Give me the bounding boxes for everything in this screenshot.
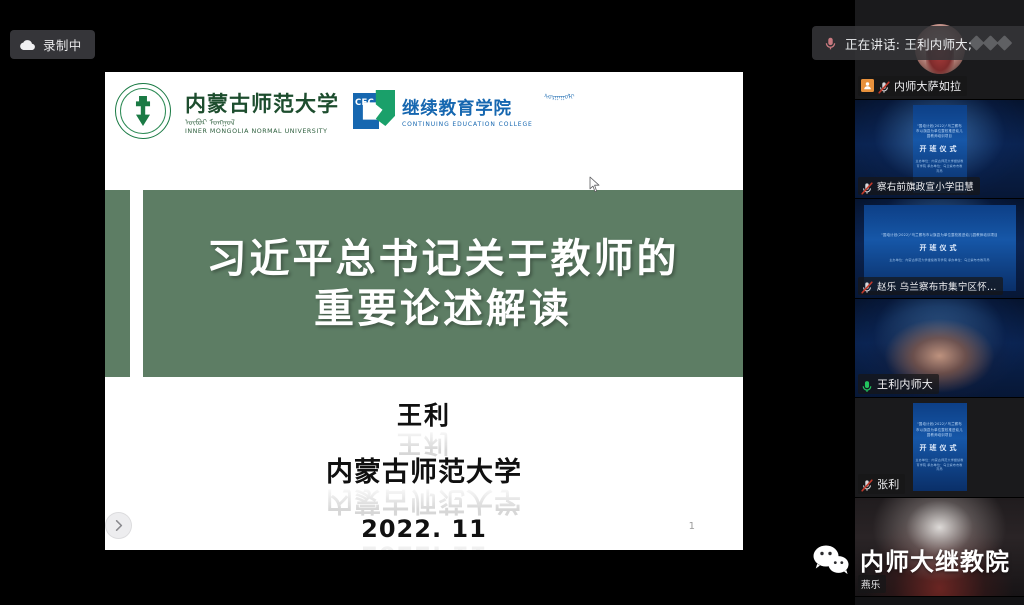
college-name-cn: 继续教育学院: [402, 95, 533, 120]
university-seal-icon: [115, 83, 171, 139]
poster-line-1: "国培计划(2022)"乌兰察布市以旗县为单位整校推进幼儿园教师培训项目: [878, 233, 1001, 238]
banner-body: 习近平总书记关于教师的 重要论述解读: [143, 190, 743, 377]
participant-name: 王利内师大: [877, 376, 933, 392]
poster-line-3: 主办单位：内蒙古师范大学继续教育学院 承办单位：乌兰察布市教育局: [913, 159, 967, 173]
participant-name: 察右前旗政宣小学田慧: [877, 179, 974, 193]
poster-line-2: 开班仪式: [920, 144, 960, 154]
university-name-en: INNER MONGOLIA NORMAL UNIVERSITY: [185, 128, 339, 135]
slide-logo-header: 内蒙古师范大学 ᠦᠪᠦᠷ ᠮᠣᠩᠭᠣᠯ INNER MONGOLIA NORMA…: [105, 80, 743, 142]
college-name-mn: ᠰᠤᠷᠭᠠᠭᠤᠯᠢ: [544, 90, 575, 102]
college-name-en: CONTINUING EDUCATION COLLEGE: [402, 121, 533, 128]
participant-tile[interactable]: "国培计划(2022)"乌兰察布市以旗县为单位整校推进幼儿园教师培训项目 开班仪…: [855, 398, 1024, 498]
recording-label: 录制中: [43, 35, 82, 54]
university-wordmark: 内蒙古师范大学 ᠦᠪᠦᠷ ᠮᠣᠩᠭᠣᠯ INNER MONGOLIA NORMA…: [185, 88, 339, 135]
university-name-mn: ᠦᠪᠦᠷ ᠮᠣᠩᠭᠣᠯ: [185, 119, 339, 127]
participant-name-strip: 赵乐 乌兰察布市集宁区怀远路...: [858, 277, 1003, 295]
university-name-cn: 内蒙古师范大学: [185, 88, 339, 118]
chevron-right-icon[interactable]: [105, 512, 132, 539]
active-speaker-banner: 正在讲话: 王利内师大;: [812, 26, 1024, 60]
slide-title-banner: 习近平总书记关于教师的 重要论述解读: [105, 190, 743, 377]
layout-icon[interactable]: [971, 38, 1010, 49]
author-organization: 内蒙古师范大学: [326, 457, 522, 488]
participant-name: 张利: [877, 476, 899, 492]
college-wordmark: 继续教育学院 CONTINUING EDUCATION COLLEGE: [402, 95, 533, 128]
participant-name-strip: 察右前旗政宣小学田慧: [858, 177, 980, 195]
shared-screen-stage: 录制中 内蒙古师范大学 ᠦᠪᠦᠷ ᠮᠣᠩᠭᠣᠯ INNER MONGOLIA N…: [0, 0, 855, 605]
microphone-icon: [861, 378, 873, 391]
microphone-muted-icon: [861, 180, 873, 193]
participant-name: 燕乐: [861, 577, 880, 591]
poster-line-1: "国培计划(2022)"乌兰察布市以旗县为单位整校推进幼儿园教师培训项目: [913, 124, 967, 139]
presentation-slide: 内蒙古师范大学 ᠦᠪᠦᠷ ᠮᠣᠩᠭᠣᠯ INNER MONGOLIA NORMA…: [105, 72, 743, 550]
cloud-icon: [19, 39, 36, 51]
participant-rail[interactable]: 内师大萨如拉 "国培计划(2022)"乌兰察布市以旗县为单位整校推进幼儿园教师培…: [855, 0, 1024, 605]
participant-tile-active-speaker[interactable]: 王利内师大: [855, 299, 1024, 399]
participant-tile[interactable]: 燕乐: [855, 498, 1024, 598]
participant-name: 内师大萨如拉: [894, 78, 961, 94]
author-date: 2022. 11: [361, 516, 487, 544]
active-speaker-label: 正在讲话: 王利内师大;: [845, 34, 972, 53]
participant-tile[interactable]: "国培计划(2022)"乌兰察布市以旗县为单位整校推进幼儿园教师培训项目 开班仪…: [855, 100, 1024, 200]
person-icon: [861, 79, 874, 92]
poster-line-1: "国培计划(2022)"乌兰察布市以旗县为单位整校推进幼儿园教师培训项目: [913, 422, 967, 437]
college-logo: CEC 继续教育学院 CONTINUING EDUCATION COLLEGE …: [353, 90, 575, 132]
poster-line-2: 开班仪式: [920, 443, 960, 453]
microphone-muted-icon: [861, 477, 873, 490]
microphone-muted-icon: [878, 79, 890, 92]
participant-name-strip: 张利: [858, 474, 905, 494]
participant-tile[interactable]: "国培计划(2022)"乌兰察布市以旗县为单位整校推进幼儿园教师培训项目 开班仪…: [855, 199, 1024, 299]
participant-name-strip: 燕乐: [858, 575, 886, 593]
microphone-muted-icon: [861, 279, 873, 292]
participant-name-strip: 内师大萨如拉: [858, 76, 967, 96]
cec-mark-icon: CEC: [353, 90, 395, 132]
author-organization-reflection: 内蒙古师范大学: [326, 485, 522, 516]
microphone-icon: [824, 36, 837, 51]
cec-abbreviation: CEC: [355, 98, 374, 108]
slide-title-line-1: 习近平总书记关于教师的: [207, 235, 680, 282]
participant-name-strip: 王利内师大: [858, 374, 939, 394]
banner-accent-bar: [105, 190, 130, 377]
poster-line-3: 主办单位：内蒙古师范大学继续教育学院 承办单位：乌兰察布市教育局: [886, 258, 992, 263]
slide-page-number: 1: [689, 521, 695, 532]
video-conference-screen: 录制中 内蒙古师范大学 ᠦᠪᠦᠷ ᠮᠣᠩᠭᠣᠯ INNER MONGOLIA N…: [0, 0, 1024, 605]
shared-poster: "国培计划(2022)"乌兰察布市以旗县为单位整校推进幼儿园教师培训项目 开班仪…: [913, 403, 967, 491]
poster-line-2: 开班仪式: [920, 243, 960, 253]
poster-line-3: 主办单位：内蒙古师范大学继续教育学院 承办单位：乌兰察布市教育局: [913, 458, 967, 472]
slide-author-block: 王利 王利 内蒙古师范大学 内蒙古师范大学 2022. 11 2022. 11: [105, 402, 743, 550]
participant-name: 赵乐 乌兰察布市集宁区怀远路...: [877, 279, 997, 293]
author-name: 王利: [397, 402, 451, 431]
recording-indicator: 录制中: [10, 30, 95, 59]
author-name-reflection: 王利: [397, 428, 451, 457]
slide-title-line-2: 重要论述解读: [314, 285, 572, 332]
